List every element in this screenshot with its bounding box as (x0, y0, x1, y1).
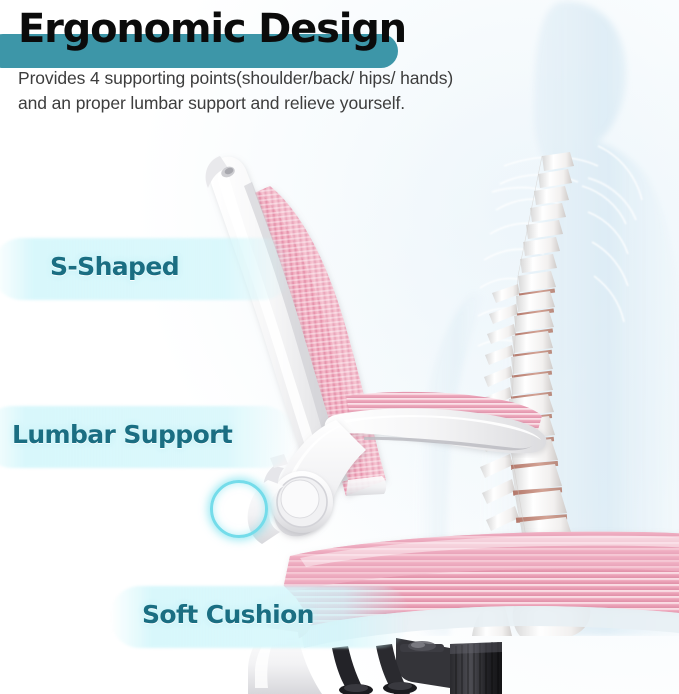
callout-label-lumbar-support: Lumbar Support (12, 420, 232, 449)
description-line-1: Provides 4 supporting points(shoulder/ba… (18, 66, 618, 91)
header-block: Ergonomic Design Provides 4 supporting p… (0, 0, 679, 128)
callout-label-soft-cushion: Soft Cushion (142, 600, 314, 629)
callout-soft-cushion: Soft Cushion (110, 586, 410, 648)
description-line-2: and an proper lumbar support and relieve… (18, 91, 618, 116)
page-title: Ergonomic Design (18, 6, 406, 52)
callout-s-shaped: S-Shaped (0, 238, 292, 300)
description-text: Provides 4 supporting points(shoulder/ba… (18, 66, 618, 116)
callout-lumbar-support: Lumbar Support (0, 406, 294, 468)
callout-ring-pointer-s-shaped (210, 480, 268, 538)
infographic-canvas: Ergonomic Design Provides 4 supporting p… (0, 0, 679, 694)
callout-label-s-shaped: S-Shaped (50, 252, 179, 281)
